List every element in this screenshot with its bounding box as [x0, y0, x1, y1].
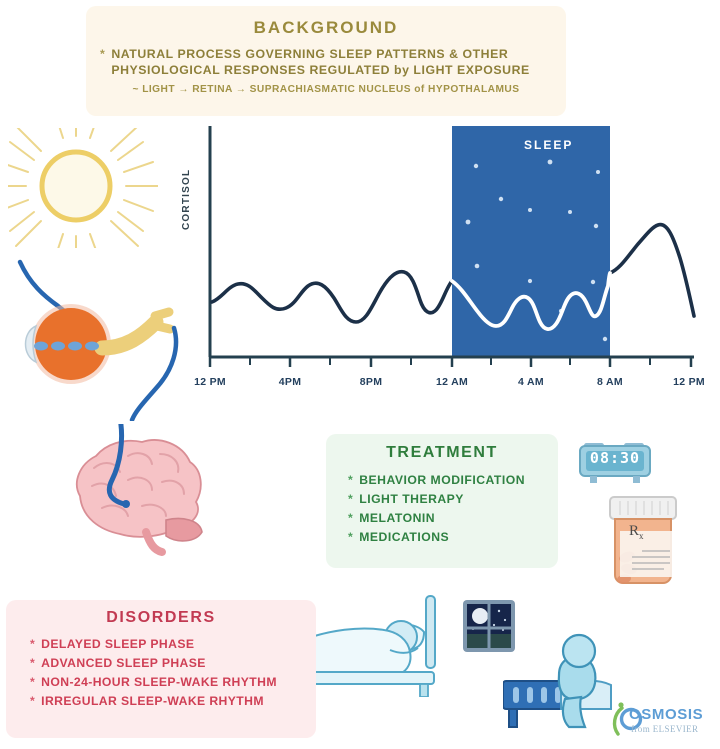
treatment-item-label: LIGHT THERAPY [359, 490, 464, 509]
bullet-marker: * [100, 47, 105, 78]
list-item: * DELAYED SLEEP PHASE [30, 635, 316, 654]
disorders-title: DISORDERS [6, 609, 316, 627]
bed-base-leg [509, 709, 517, 727]
list-item: * IRREGULAR SLEEP-WAKE RHYTHM [30, 692, 316, 711]
bed-leg-right [420, 684, 428, 697]
sun-icon [8, 128, 158, 248]
sleep-region-label: SLEEP [524, 138, 573, 152]
list-item: * MELATONIN [348, 509, 558, 528]
cortisol-curve-wake-day [212, 272, 452, 322]
background-title: BACKGROUND [86, 18, 566, 38]
sun-illustration [8, 128, 158, 253]
eye-retina-icon [14, 236, 189, 421]
background-bullet-line2-b: by [394, 63, 409, 77]
list-item: * ADVANCED SLEEP PHASE [30, 654, 316, 673]
clock-foot-right [633, 476, 640, 483]
optic-nerve [102, 322, 156, 348]
list-item: * LIGHT THERAPY [348, 490, 558, 509]
bullet-marker: * [348, 490, 353, 509]
bullet-marker: * [30, 654, 35, 673]
x-tick-label-6: 12 PM [673, 376, 705, 388]
logo-tagline: from ELSEVIER [631, 724, 698, 734]
treatment-item-label: MELATONIN [359, 509, 435, 528]
disorders-panel: DISORDERS * DELAYED SLEEP PHASE * ADVANC… [6, 600, 316, 738]
bullet-marker: * [348, 471, 353, 490]
treatment-item-label: BEHAVIOR MODIFICATION [359, 471, 525, 490]
treatment-title: TREATMENT [326, 444, 558, 462]
clock-time-display: 08:30 [587, 449, 643, 467]
osmosis-logo: OSMOSIS from ELSEVIER [608, 700, 718, 749]
bullet-marker: * [348, 528, 353, 547]
bullet-marker: * [30, 635, 35, 654]
rx-subscript: x [639, 531, 644, 541]
bullet-marker: * [348, 509, 353, 528]
rx-letter: R [629, 523, 639, 539]
eye-retina-illustration [14, 236, 189, 426]
background-bullet-line2-a: PHYSIOLOGICAL RESPONSES REGULATED [111, 63, 394, 77]
pill-bottle-icon [602, 495, 686, 587]
digital-clock-illustration: 08:30 [578, 441, 654, 492]
x-tick-label-2: 8PM [360, 376, 383, 388]
chart-y-axis-label: CORTISOL [181, 169, 192, 230]
background-bullet-line2-c: LIGHT EXPOSURE [409, 63, 529, 77]
disorders-list: * DELAYED SLEEP PHASE * ADVANCED SLEEP P… [30, 635, 316, 711]
background-pathway-text: ~ LIGHT → RETINA → SUPRACHIASMATIC NUCLE… [86, 84, 566, 95]
x-tick-label-1: 4PM [279, 376, 302, 388]
moon [472, 608, 488, 624]
pill-bottle-illustration: Rx [602, 495, 686, 592]
awake-person-illustration [503, 629, 613, 739]
person-sitting-awake-on-bed-icon [503, 629, 613, 734]
disorder-item-label: IRREGULAR SLEEP-WAKE RHYTHM [41, 692, 264, 711]
treatment-list: * BEHAVIOR MODIFICATION * LIGHT THERAPY … [348, 471, 558, 547]
bed-post [426, 596, 435, 668]
treatment-item-label: MEDICATIONS [359, 528, 449, 547]
list-item: * MEDICATIONS [348, 528, 558, 547]
disorder-item-label: ADVANCED SLEEP PHASE [41, 654, 206, 673]
disorder-item-label: NON-24-HOUR SLEEP-WAKE RHYTHM [41, 673, 277, 692]
person-head [563, 635, 595, 667]
x-tick-label-0: 12 PM [194, 376, 226, 388]
background-bullet-line1: NATURAL PROCESS GOVERNING SLEEP PATTERNS… [111, 47, 508, 61]
rx-label: Rx [629, 523, 644, 541]
disorder-item-label: DELAYED SLEEP PHASE [41, 635, 194, 654]
x-tick-label-4: 4 AM [518, 376, 544, 388]
sun-disc [42, 152, 110, 220]
sleep-shaded-region [452, 126, 610, 357]
background-bullet: * NATURAL PROCESS GOVERNING SLEEP PATTER… [100, 47, 566, 78]
background-bullet-text: NATURAL PROCESS GOVERNING SLEEP PATTERNS… [111, 47, 529, 78]
bullet-marker: * [30, 692, 35, 711]
list-item: * BEHAVIOR MODIFICATION [348, 471, 558, 490]
scn-target-dot [122, 500, 130, 508]
logo-dot-green [618, 702, 623, 707]
brain-illustration [62, 424, 212, 569]
bottle-label [620, 531, 672, 577]
x-tick-label-3: 12 AM [436, 376, 468, 388]
x-tick-label-5: 8 AM [597, 376, 623, 388]
chart-plot-svg [178, 126, 698, 376]
clock-foot-left [590, 476, 597, 483]
list-item: * NON-24-HOUR SLEEP-WAKE RHYTHM [30, 673, 316, 692]
bullet-marker: * [30, 673, 35, 692]
cerebellum [166, 519, 202, 541]
cap-ridges [620, 501, 668, 515]
brain-icon [62, 424, 212, 564]
cortisol-circadian-chart: CORTISOL [178, 126, 698, 401]
background-panel: BACKGROUND * NATURAL PROCESS GOVERNING S… [86, 6, 566, 116]
cortisol-curve-morning-peak [610, 225, 694, 316]
logo-wordmark: OSMOSIS [629, 706, 703, 723]
treatment-panel: TREATMENT * BEHAVIOR MODIFICATION * LIGH… [326, 434, 558, 568]
